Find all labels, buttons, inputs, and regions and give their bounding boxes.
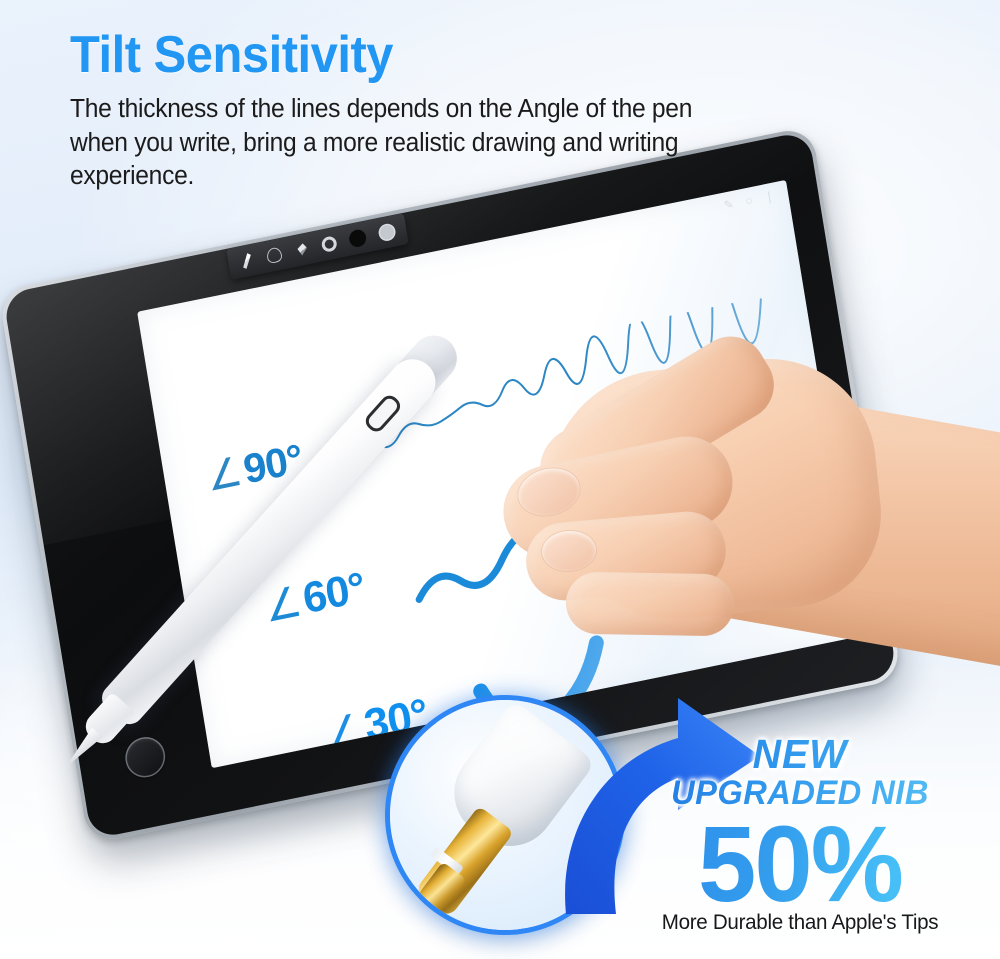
- page-description: The thickness of the lines depends on th…: [70, 93, 919, 195]
- product-image-stage: Tilt Sensitivity The thickness of the li…: [0, 0, 1000, 959]
- promo-percent-value: 50%: [606, 814, 994, 913]
- ring-icon[interactable]: ○: [744, 193, 753, 208]
- angle-label-60: 60°: [300, 568, 367, 619]
- color-black-icon[interactable]: [348, 228, 367, 248]
- shape-tool-icon[interactable]: [266, 246, 283, 264]
- ring-finger: [565, 572, 734, 637]
- nib-magnifier-callout: [390, 700, 620, 930]
- eraser-tool-icon[interactable]: [293, 241, 310, 259]
- description-line-3: experience.: [70, 160, 919, 194]
- ring-tool-icon[interactable]: [321, 235, 338, 253]
- color-light-icon[interactable]: [377, 222, 396, 242]
- angle-symbol-icon-30: ∠: [323, 709, 366, 754]
- page-title: Tilt Sensitivity: [70, 28, 897, 83]
- promo-block: NEW UPGRADED NIB 50% More Durable than A…: [600, 735, 1000, 935]
- header-block: Tilt Sensitivity The thickness of the li…: [70, 28, 950, 194]
- description-line-1: The thickness of the lines depends on th…: [70, 93, 919, 127]
- angle-symbol-icon-90: ∠: [204, 453, 245, 496]
- brush-tool-icon[interactable]: [238, 251, 255, 271]
- pencil-icon[interactable]: ✎: [723, 197, 735, 213]
- description-line-2: when you write, bring a more realistic d…: [70, 127, 919, 161]
- stylus-tip: [65, 728, 102, 767]
- promo-new-label: NEW: [608, 735, 992, 774]
- promo-subtext: More Durable than Apple's Tips: [604, 911, 996, 935]
